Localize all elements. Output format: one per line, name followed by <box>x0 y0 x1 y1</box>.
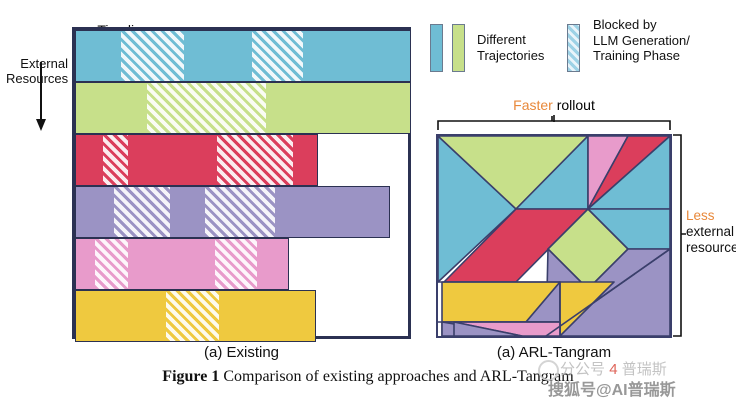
less-rest-text: external resources <box>686 224 736 255</box>
faster-rollout-label: Faster rollout <box>436 97 672 113</box>
legend-swatch-trajectory-blue <box>430 24 443 72</box>
legend-swatch-blocked-hatch <box>567 24 580 72</box>
timeline-bar[interactable] <box>75 238 289 290</box>
legend: Different Trajectories Blocked by LLM Ge… <box>425 8 736 82</box>
timeline-bar[interactable] <box>75 134 318 186</box>
legend-label-blocked: Blocked by LLM Generation/ Training Phas… <box>593 17 736 64</box>
figure-caption: Figure 1 Comparison of existing approach… <box>0 368 736 386</box>
blocked-segment <box>252 31 303 81</box>
less-highlight-text: Less <box>686 208 715 223</box>
arl-tangram-diagram <box>436 134 672 338</box>
timeline-bar[interactable] <box>75 186 390 238</box>
faster-highlight-text: Faster <box>513 97 553 113</box>
figure-caption-text: Comparison of existing approaches and AR… <box>223 368 573 385</box>
tangram-svg <box>438 136 670 336</box>
legend-swatch-trajectory-green <box>452 24 465 72</box>
timeline-bar[interactable] <box>75 82 411 134</box>
blocked-segment <box>217 135 293 185</box>
panel-b-caption: (a) ARL-Tangram <box>436 344 672 361</box>
watermark-avatar <box>538 360 559 381</box>
figure-container: Timeline External Resources Different Tr… <box>0 0 736 405</box>
timeline-bar[interactable] <box>75 30 411 82</box>
blocked-segment <box>95 239 128 289</box>
panel-a-caption: (a) Existing <box>72 344 411 361</box>
timeline-bar[interactable] <box>75 290 316 342</box>
blocked-segment <box>205 187 275 237</box>
legend-label-trajectories: Different Trajectories <box>477 32 563 63</box>
existing-approach-chart <box>72 27 411 339</box>
blocked-segment <box>147 83 266 133</box>
figure-caption-prefix: Figure 1 <box>162 368 219 385</box>
faster-rollout-bracket <box>436 115 672 131</box>
arrow-down-icon <box>34 62 48 132</box>
faster-rest-text: rollout <box>553 97 595 113</box>
blocked-segment <box>114 187 170 237</box>
blocked-segment <box>215 239 257 289</box>
blocked-segment <box>103 135 128 185</box>
blocked-segment <box>121 31 184 81</box>
less-external-resources-label: Less external resources <box>686 208 736 256</box>
blocked-segment <box>166 291 219 341</box>
